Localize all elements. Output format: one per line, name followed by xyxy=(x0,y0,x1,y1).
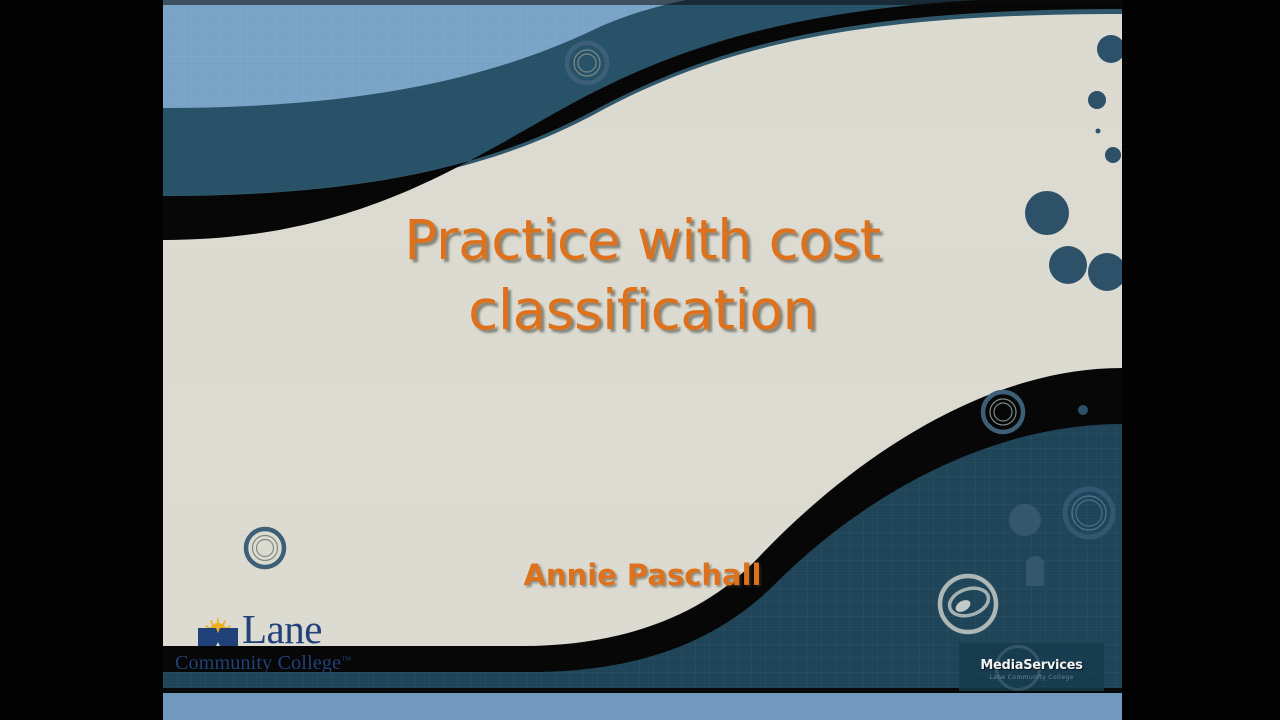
logo-wordmark: Lane xyxy=(242,609,322,650)
watermark-title: MediaServices xyxy=(959,658,1104,673)
bottom-light-blue-strip xyxy=(163,692,1122,720)
media-services-watermark: MediaServices Lane Community College xyxy=(959,643,1104,691)
logo-subtitle-row: Community College™ xyxy=(173,650,403,674)
open-book-sunrise-icon xyxy=(197,616,239,648)
presentation-slide: Practice with cost classification Annie … xyxy=(163,0,1122,720)
top-edge-line xyxy=(163,0,1122,5)
watermark-subtitle: Lane Community College xyxy=(959,674,1104,681)
logo-top-row: Lane xyxy=(173,608,403,650)
video-frame: Practice with cost classification Annie … xyxy=(0,0,1280,720)
logo-subtitle: Community College xyxy=(175,652,341,674)
logo-trademark: ™ xyxy=(341,655,351,666)
lane-community-college-logo: Lane Community College™ xyxy=(173,608,403,674)
